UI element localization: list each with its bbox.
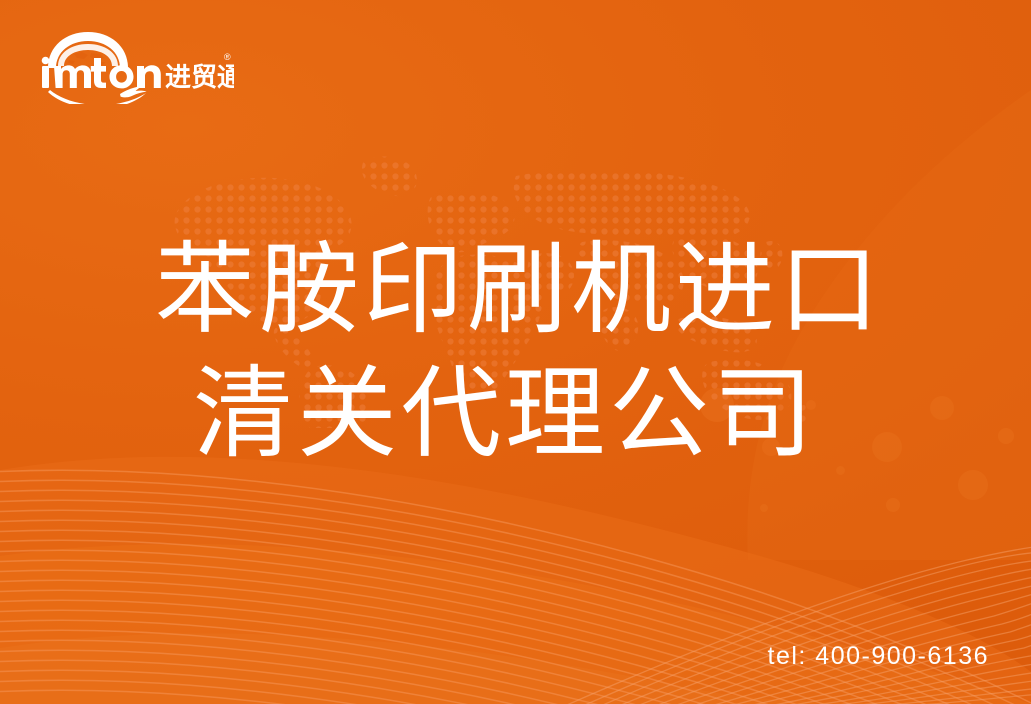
headline-line-2: 清关代理公司 bbox=[155, 352, 895, 476]
swoosh-dart-icon bbox=[48, 86, 147, 104]
brand-logo[interactable]: 进贸通 ® bbox=[34, 26, 234, 104]
globe-arc-icon bbox=[48, 32, 128, 68]
svg-text:进贸通: 进贸通 bbox=[165, 63, 234, 93]
headline-line-1: 苯胺印刷机进口 bbox=[155, 228, 895, 352]
svg-text:®: ® bbox=[224, 52, 231, 62]
contact-telephone[interactable]: tel: 400-900-6136 bbox=[768, 642, 989, 671]
page-title: 苯胺印刷机进口 清关代理公司 bbox=[155, 228, 895, 476]
promo-banner: 进贸通 ® 苯胺印刷机进口 清关代理公司 tel: 400-900-6136 bbox=[0, 0, 1031, 704]
brand-chinese-mark: 进贸通 ® bbox=[165, 52, 234, 93]
